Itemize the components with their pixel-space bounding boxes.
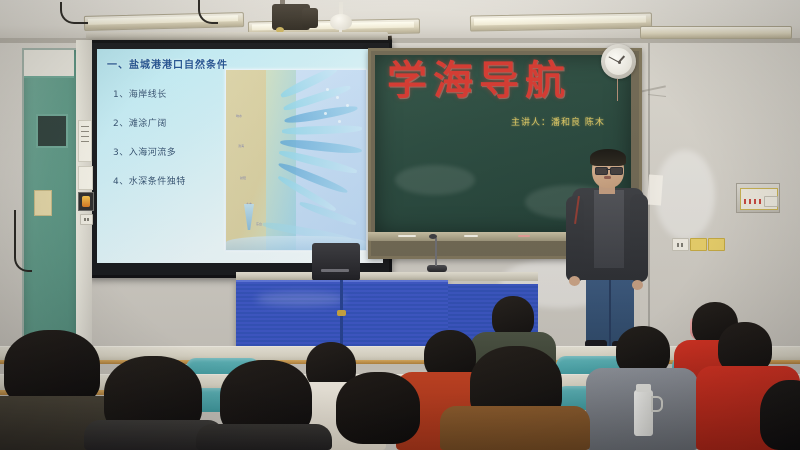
student-head xyxy=(336,372,420,444)
chalk-piece-red[interactable] xyxy=(518,235,530,237)
presenter-left-hand xyxy=(569,276,580,286)
map-marker xyxy=(338,120,341,123)
presenter-leg-seam xyxy=(609,270,611,348)
student-head xyxy=(4,330,100,406)
map-marker xyxy=(324,112,327,115)
wall-outlet[interactable] xyxy=(764,196,778,207)
thermos-handle xyxy=(651,396,663,412)
door-label xyxy=(34,190,52,216)
glasses-bridge xyxy=(606,169,610,170)
wall-outlet-yellow[interactable] xyxy=(708,238,725,251)
chalk-smudge xyxy=(395,165,475,195)
wall-notice xyxy=(78,120,92,162)
slide-bullet-4: 4、水深条件独特 xyxy=(113,174,223,187)
glasses-icon xyxy=(610,167,623,175)
wall-clock xyxy=(601,44,636,79)
presenter-right-arm xyxy=(630,194,648,282)
presenter-left-arm xyxy=(566,196,584,282)
wall-paint-peel xyxy=(647,175,663,206)
wall-blemish xyxy=(655,150,715,240)
map-marker xyxy=(346,104,349,107)
slide-map-image: 响水 滨海 射阳 大丰 东台 xyxy=(225,69,367,251)
chalk-piece[interactable] xyxy=(398,235,416,237)
blackboard-subline: 主讲人：潘和良 陈木 xyxy=(511,115,605,128)
breaker-switch[interactable] xyxy=(759,199,761,204)
clock-face xyxy=(605,48,632,75)
breaker-switch[interactable] xyxy=(754,199,756,204)
map-label-1: 滨海 xyxy=(238,144,244,148)
presenter-mouth xyxy=(604,176,611,179)
chalk-piece[interactable] xyxy=(464,235,478,237)
thermos-cap xyxy=(636,384,651,392)
emergency-light-glyph xyxy=(82,196,90,207)
clock-cord xyxy=(617,79,618,101)
map-label-0: 响水 xyxy=(236,114,242,118)
map-marker xyxy=(326,88,329,91)
lectern-lock-icon[interactable] xyxy=(337,310,346,316)
map-marker xyxy=(336,96,339,99)
microphone-stem xyxy=(435,238,437,266)
slide-content: 一、盐城港港口自然条件 1、海岸线长 2、滩涂广阔 3、入海河流多 4、水深条件… xyxy=(97,49,383,263)
microphone-head-icon[interactable] xyxy=(429,234,437,239)
classroom-photo: 一、盐城港港口自然条件 1、海岸线长 2、滩涂广阔 3、入海河流多 4、水深条件… xyxy=(0,0,800,450)
presenter-sweater xyxy=(594,190,624,268)
student-body xyxy=(440,406,590,450)
presenter-right-hand xyxy=(632,280,643,290)
emergency-light-sign xyxy=(78,192,94,211)
ceiling-cable xyxy=(60,2,88,24)
slide-bullet-1: 1、海岸线长 xyxy=(113,87,223,100)
clock-center-pin xyxy=(618,61,621,64)
slide-bullet-2: 2、滩涂广阔 xyxy=(113,116,223,129)
breaker-switch[interactable] xyxy=(744,199,746,204)
slide-title: 一、盐城港港口自然条件 xyxy=(107,56,228,71)
door-transom-window xyxy=(24,50,74,78)
wall-outlet-yellow[interactable] xyxy=(690,238,707,251)
map-label-4: 东台 xyxy=(256,222,262,226)
podium-highlight xyxy=(256,292,346,306)
student-body xyxy=(196,424,332,450)
student-head xyxy=(760,380,800,450)
projector-bracket xyxy=(302,8,318,28)
presenter-hair xyxy=(590,149,626,166)
wall-notice-small xyxy=(78,166,93,190)
wall-outlet[interactable] xyxy=(672,238,689,251)
blackboard-headline: 学海导航 xyxy=(387,61,617,101)
breaker-switch[interactable] xyxy=(749,199,751,204)
door-viewport xyxy=(36,114,68,148)
monitor-brand-label xyxy=(321,269,349,272)
microphone-base xyxy=(427,265,447,272)
map-label-2: 射阳 xyxy=(240,176,246,180)
wall-outlet[interactable] xyxy=(80,214,93,225)
ceiling-light-fixture xyxy=(640,26,792,39)
slide-bullet-3: 3、入海河流多 xyxy=(113,145,223,158)
slide-bullet-list: 1、海岸线长 2、滩涂广阔 3、入海河流多 4、水深条件独特 xyxy=(113,87,223,203)
desktop-monitor[interactable] xyxy=(312,243,360,281)
wall-cable xyxy=(14,210,32,272)
